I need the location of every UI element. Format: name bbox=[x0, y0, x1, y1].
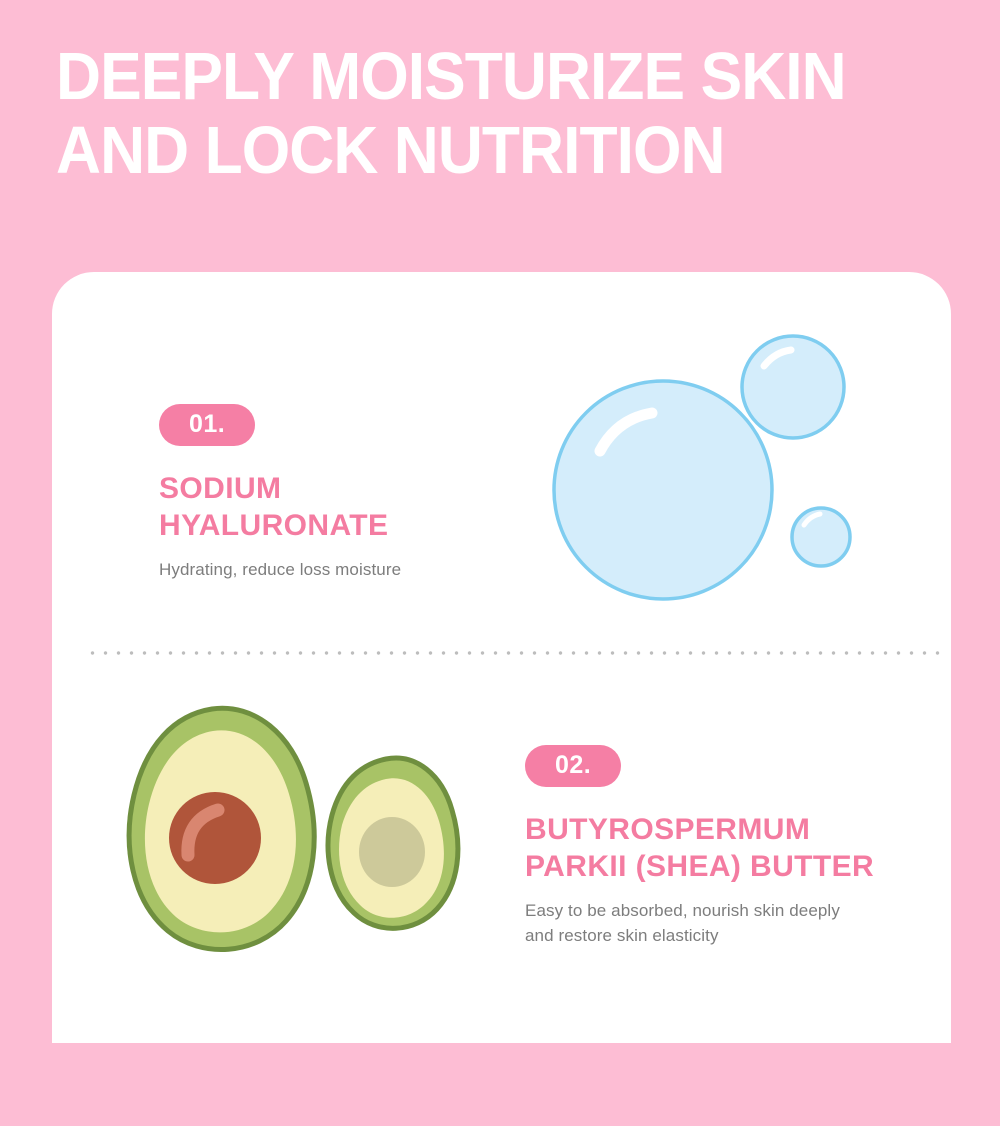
ingredients-card: 01. SODIUM HYALURONATE Hydrating, reduce… bbox=[52, 272, 951, 1043]
avocado-halves-illustration bbox=[120, 697, 500, 967]
avocado-pit-small-icon bbox=[359, 817, 425, 887]
bubble-large-icon bbox=[554, 381, 772, 599]
ingredient-description-02: Easy to be absorbed, nourish skin deeply… bbox=[525, 898, 925, 948]
ingredient-block-02: 02. BUTYROSPERMUM PARKII (SHEA) BUTTER E… bbox=[525, 745, 925, 948]
avocado-half-small-icon bbox=[328, 758, 458, 928]
bubble-medium-icon bbox=[742, 336, 844, 438]
ingredient-title-02: BUTYROSPERMUM PARKII (SHEA) BUTTER bbox=[525, 811, 925, 885]
soap-bubbles-illustration bbox=[542, 322, 922, 632]
ingredient-block-01: 01. SODIUM HYALURONATE Hydrating, reduce… bbox=[159, 404, 489, 582]
bubble-small-icon bbox=[792, 508, 850, 566]
ingredient-number-badge-02: 02. bbox=[525, 745, 621, 787]
page-title: DEEPLY MOISTURIZE SKIN AND LOCK NUTRITIO… bbox=[56, 40, 874, 188]
ingredient-title-01: SODIUM HYALURONATE bbox=[159, 470, 489, 544]
avocado-half-large-icon bbox=[129, 708, 314, 949]
ingredient-number-badge-01: 01. bbox=[159, 404, 255, 446]
section-divider bbox=[86, 651, 942, 655]
ingredient-description-01: Hydrating, reduce loss moisture bbox=[159, 557, 489, 582]
